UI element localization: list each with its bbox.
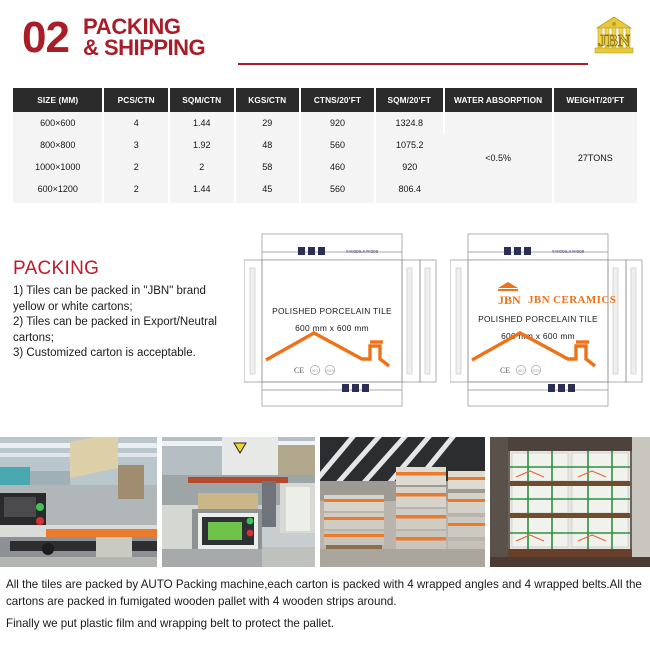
photo-loaded-shipping-container [490,437,650,567]
cell-kgs: 58 [235,156,301,178]
carton-brand-sub: JBN CERAMICS [528,294,616,306]
jbn-logo-icon: JBN [590,14,638,62]
photo-auto-packing-machine-line [0,437,157,567]
cell-pcs: 4 [103,112,169,134]
col-pcs-ctn: PCS/CTN [103,88,169,112]
page-title-line2: & SHIPPING [83,37,205,58]
cell-sqm-ctn: 1.44 [169,112,235,134]
packing-shipping-page: 02 PACKING & SHIPPING JBN [0,0,650,650]
cell-size: 800×800 [13,134,103,156]
col-size: SIZE (MM) [13,88,103,112]
col-kgs-ctn: KGS/CTN [235,88,301,112]
cell-ctns: 560 [300,178,375,203]
packing-title: PACKING [13,258,238,280]
cell-kgs: 29 [235,112,301,134]
footer-paragraph-2: Finally we put plastic film and wrapping… [6,616,642,633]
packing-item-1: 1) Tiles can be packed in "JBN" brand ye… [13,284,238,315]
carton-illustration-neutral: 600mm*600mm POLISHED PORCELAIN TILE 600 … [244,232,437,410]
cell-sqm-ctn: 1.44 [169,178,235,203]
carton-product-line: POLISHED PORCELAIN TILE [478,314,598,324]
page-header: 02 PACKING & SHIPPING JBN [0,0,650,78]
cell-size: 600×600 [13,112,103,134]
page-title: PACKING & SHIPPING [83,16,205,58]
cell-ctns: 560 [300,134,375,156]
header-divider [238,63,588,65]
carton-size-line: 600 mm x 600 mm [295,323,369,333]
col-sqm-20ft: SQM/20'FT [375,88,444,112]
cell-sqm-ctn: 2 [169,156,235,178]
packing-section: PACKING 1) Tiles can be packed in "JBN" … [13,258,238,362]
carton-top-label: 600mm*600mm [552,249,585,254]
packing-item-2: 2) Tiles can be packed in Export/Neutral… [13,315,238,346]
packing-list: 1) Tiles can be packed in "JBN" brand ye… [13,284,238,362]
cell-sqm-20ft: 1075.2 [375,134,444,156]
footer-paragraph-1: All the tiles are packed by AUTO Packing… [6,577,642,610]
table-header-row: SIZE (MM) PCS/CTN SQM/CTN KGS/CTN CTNS/2… [13,88,637,112]
svg-text:SGS: SGS [326,369,334,373]
cell-size: 600×1200 [13,178,103,203]
svg-text:SGS: SGS [532,369,540,373]
cell-sqm-20ft: 1324.8 [375,112,444,134]
cell-water-absorption: <0.5% [444,112,553,203]
table-row: 600×600 4 1.44 29 920 1324.8 <0.5% 27TON… [13,112,637,134]
carton-illustration-jbn: 600mm*600mm JBN JBN CERAMICS POLISHED PO… [450,232,643,410]
svg-text:ISO: ISO [518,369,524,373]
cell-ctns: 920 [300,112,375,134]
carton-brand-text: JBN [498,293,521,307]
cell-weight-20ft: 27TONS [553,112,637,203]
photo-warehouse-stacked-pallets [320,437,485,567]
cell-pcs: 2 [103,178,169,203]
ce-mark-icon: CE [294,366,304,375]
handling-marks-bottom [342,384,369,392]
cell-ctns: 460 [300,156,375,178]
packing-item-3: 3) Customized carton is acceptable. [13,346,238,362]
svg-text:ISO: ISO [312,369,318,373]
handling-marks-bottom [548,384,575,392]
col-weight-20ft: WEIGHT/20'FT [553,88,637,112]
handling-marks-top [298,247,325,255]
col-water-absorption: WATER ABSORPTION [444,88,553,112]
cell-kgs: 45 [235,178,301,203]
cell-pcs: 3 [103,134,169,156]
cell-sqm-20ft: 920 [375,156,444,178]
carton-product-line: POLISHED PORCELAIN TILE [272,306,392,316]
col-sqm-ctn: SQM/CTN [169,88,235,112]
col-ctns-20ft: CTNS/20'FT [300,88,375,112]
handling-marks-top [504,247,531,255]
cell-sqm-20ft: 806.4 [375,178,444,203]
ce-mark-icon: CE [500,366,510,375]
carton-top-label: 600mm*600mm [346,249,379,254]
section-number: 02 [22,16,69,60]
photo-packing-machine-control-panel [162,437,315,567]
cell-sqm-ctn: 1.92 [169,134,235,156]
factory-photo-strip [0,437,650,567]
cell-size: 1000×1000 [13,156,103,178]
cell-kgs: 48 [235,134,301,156]
specification-table: SIZE (MM) PCS/CTN SQM/CTN KGS/CTN CTNS/2… [13,88,637,203]
page-title-line1: PACKING [83,16,205,37]
jbn-logo-text: JBN [598,31,631,50]
footer-description: All the tiles are packed by AUTO Packing… [6,577,642,633]
cell-pcs: 2 [103,156,169,178]
